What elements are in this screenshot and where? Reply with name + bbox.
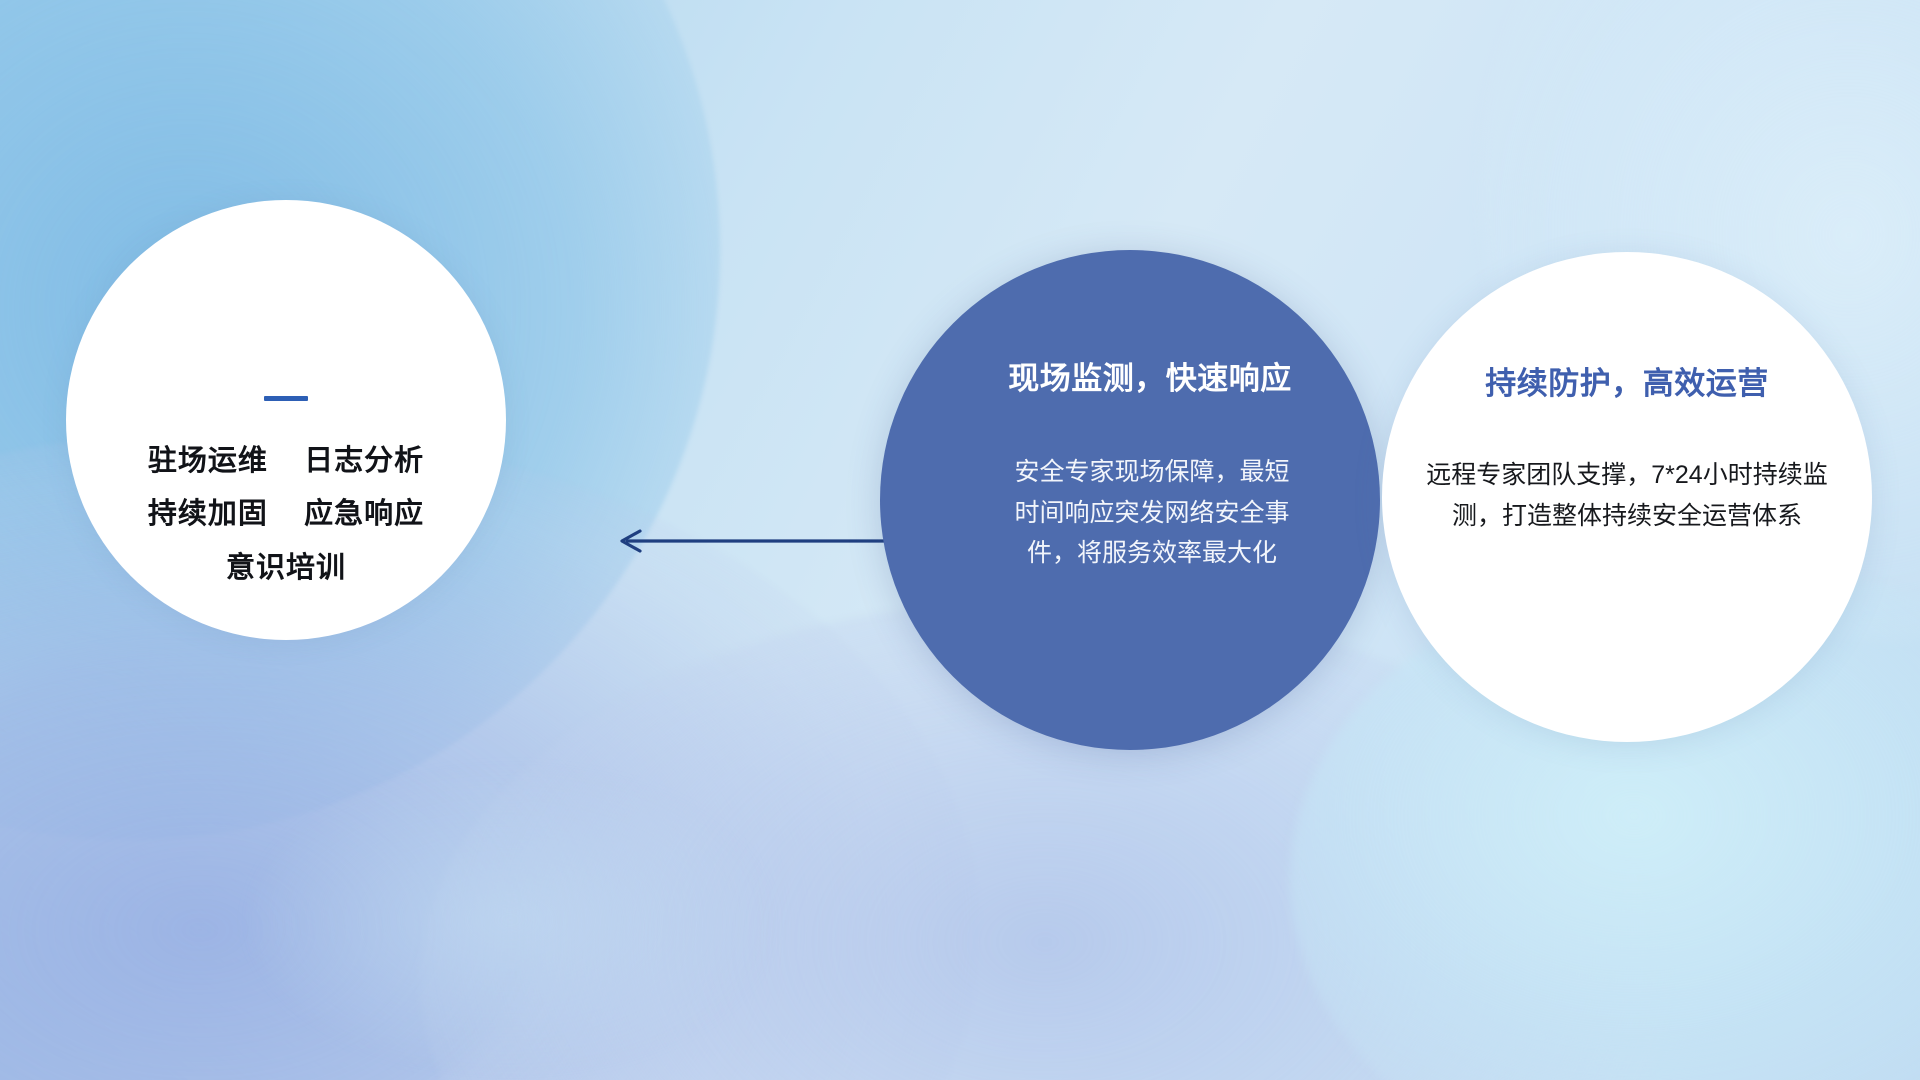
onsite-circle-body: 安全专家现场保障，最短时间响应突发网络安全事件，将服务效率最大化 xyxy=(965,452,1295,574)
capability-keyword-row-1: 驻场运维 日志分析 xyxy=(66,435,506,488)
continuous-protection-circle[interactable]: 持续防护，高效运营 远程专家团队支撑，7*24小时持续监测，打造整体持续安全运营… xyxy=(1382,252,1872,742)
arrow-onsite-to-capabilities xyxy=(604,528,894,554)
continuous-circle-title: 持续防护，高效运营 xyxy=(1485,358,1769,403)
capabilities-circle[interactable]: 驻场运维 日志分析 持续加固 应急响应 意识培训 xyxy=(66,200,506,640)
capability-keyword-list: 驻场运维 日志分析 持续加固 应急响应 意识培训 xyxy=(66,435,506,595)
left-arrow-icon xyxy=(604,528,894,554)
onsite-circle-title: 现场监测，快速响应 xyxy=(968,353,1292,398)
onsite-circle-content: 现场监测，快速响应 安全专家现场保障，最短时间响应突发网络安全事件，将服务效率最… xyxy=(880,250,1380,750)
diagram-canvas: 驻场运维 日志分析 持续加固 应急响应 意识培训 现场监测，快速响应 安全专家现… xyxy=(0,0,1920,1080)
continuous-circle-content: 持续防护，高效运营 远程专家团队支撑，7*24小时持续监测，打造整体持续安全运营… xyxy=(1382,252,1872,742)
onsite-monitoring-circle[interactable]: 现场监测，快速响应 安全专家现场保障，最短时间响应突发网络安全事件，将服务效率最… xyxy=(880,250,1380,750)
capability-keyword-row-3: 意识培训 xyxy=(66,542,506,595)
divider-dash xyxy=(264,396,308,401)
capability-keyword-row-2: 持续加固 应急响应 xyxy=(66,488,506,541)
continuous-circle-body: 远程专家团队支撑，7*24小时持续监测，打造整体持续安全运营体系 xyxy=(1417,455,1837,536)
